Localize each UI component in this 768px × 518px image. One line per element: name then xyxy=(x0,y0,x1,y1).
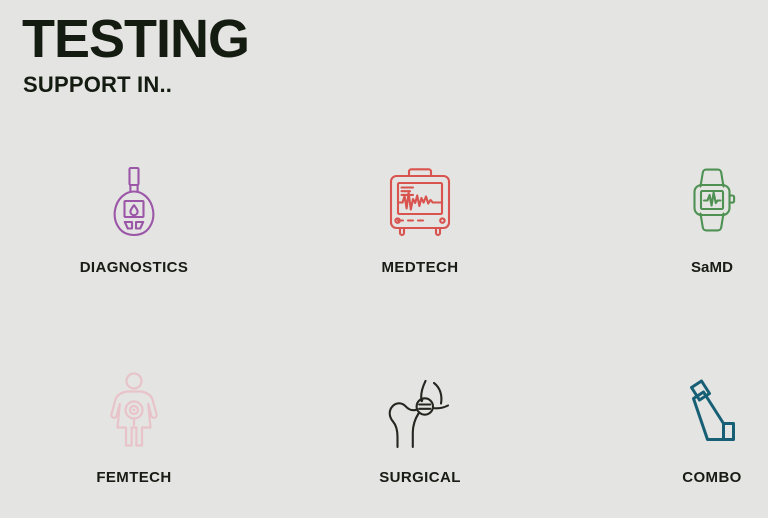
category-item-surgical[interactable]: SURGICAL xyxy=(320,375,520,486)
asthma-inhaler-icon xyxy=(612,375,768,455)
category-label: SaMD xyxy=(612,259,768,276)
category-item-medtech[interactable]: MEDTECH xyxy=(320,165,520,276)
page-title: TESTING xyxy=(22,10,249,68)
category-item-diagnostics[interactable]: DIAGNOSTICS xyxy=(34,165,234,276)
category-item-femtech[interactable]: FEMTECH xyxy=(34,375,234,486)
category-label: COMBO xyxy=(612,469,768,486)
category-grid: DIAGNOSTICS xyxy=(0,165,768,505)
category-label: SURGICAL xyxy=(320,469,520,486)
category-label: MEDTECH xyxy=(320,259,520,276)
hip-joint-bone-icon xyxy=(320,375,520,455)
glucometer-icon xyxy=(34,165,234,245)
female-body-icon xyxy=(34,375,234,455)
heading-block: TESTING SUPPORT IN.. xyxy=(22,10,249,98)
patient-monitor-icon xyxy=(320,165,520,245)
category-item-combo[interactable]: COMBO xyxy=(612,375,768,486)
page-subtitle: SUPPORT IN.. xyxy=(23,72,249,98)
category-item-samd[interactable]: SaMD xyxy=(612,165,768,276)
category-label: FEMTECH xyxy=(34,469,234,486)
slide-canvas: TESTING SUPPORT IN.. xyxy=(0,0,768,518)
category-label: DIAGNOSTICS xyxy=(34,259,234,276)
smartwatch-ecg-icon xyxy=(612,165,768,245)
